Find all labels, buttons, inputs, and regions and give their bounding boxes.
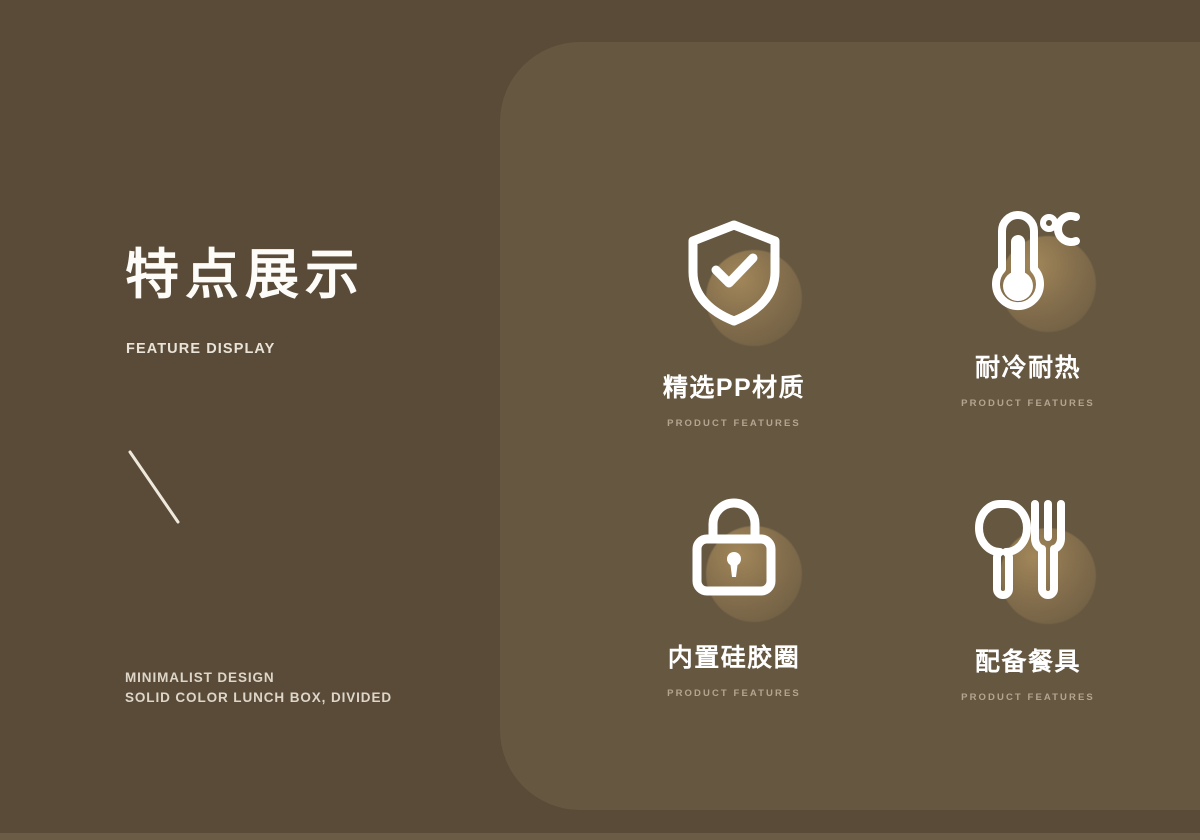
feature-card-utensils[interactable]: 配备餐具 PRODUCT FEATURES bbox=[884, 478, 1172, 758]
feature-icon-wrap bbox=[948, 478, 1108, 628]
feature-title: 耐冷耐热 bbox=[975, 356, 1081, 381]
feature-card-pp-material[interactable]: 精选PP材质 PRODUCT FEATURES bbox=[590, 200, 878, 480]
feature-subtitle: PRODUCT FEATURES bbox=[667, 688, 801, 699]
padlock-icon bbox=[686, 495, 782, 608]
feature-title: 配备餐具 bbox=[975, 650, 1081, 675]
footer-note: MINIMALIST DESIGN SOLID COLOR LUNCH BOX,… bbox=[125, 668, 392, 708]
feature-title: 精选PP材质 bbox=[663, 376, 805, 401]
feature-subtitle: PRODUCT FEATURES bbox=[961, 398, 1095, 409]
feature-grid: 精选PP材质 PRODUCT FEATURES 耐冷耐热 PRODUCT FEA… bbox=[590, 200, 1166, 760]
thermometer-celsius-icon bbox=[972, 193, 1084, 330]
bottom-strip bbox=[0, 833, 1200, 840]
feature-card-silicone-ring[interactable]: 内置硅胶圈 PRODUCT FEATURES bbox=[590, 476, 878, 756]
footer-note-line-1: MINIMALIST DESIGN bbox=[125, 668, 392, 688]
diagonal-line-icon bbox=[125, 445, 215, 535]
spoon-fork-icon bbox=[972, 497, 1084, 610]
feature-subtitle: PRODUCT FEATURES bbox=[667, 418, 801, 429]
page-title: 特点展示 bbox=[125, 248, 365, 302]
feature-icon-wrap bbox=[654, 200, 814, 350]
shield-check-icon bbox=[685, 218, 783, 333]
page-subtitle: FEATURE DISPLAY bbox=[126, 341, 275, 357]
feature-subtitle: PRODUCT FEATURES bbox=[961, 692, 1095, 703]
feature-title: 内置硅胶圈 bbox=[668, 646, 801, 671]
feature-icon-wrap bbox=[948, 186, 1108, 336]
feature-card-temperature-resistant[interactable]: 耐冷耐热 PRODUCT FEATURES bbox=[884, 186, 1172, 466]
intro-column: 特点展示 FEATURE DISPLAY MINIMALIST DESIGN S… bbox=[125, 0, 485, 840]
feature-icon-wrap bbox=[654, 476, 814, 626]
footer-note-line-2: SOLID COLOR LUNCH BOX, DIVIDED bbox=[125, 688, 392, 708]
